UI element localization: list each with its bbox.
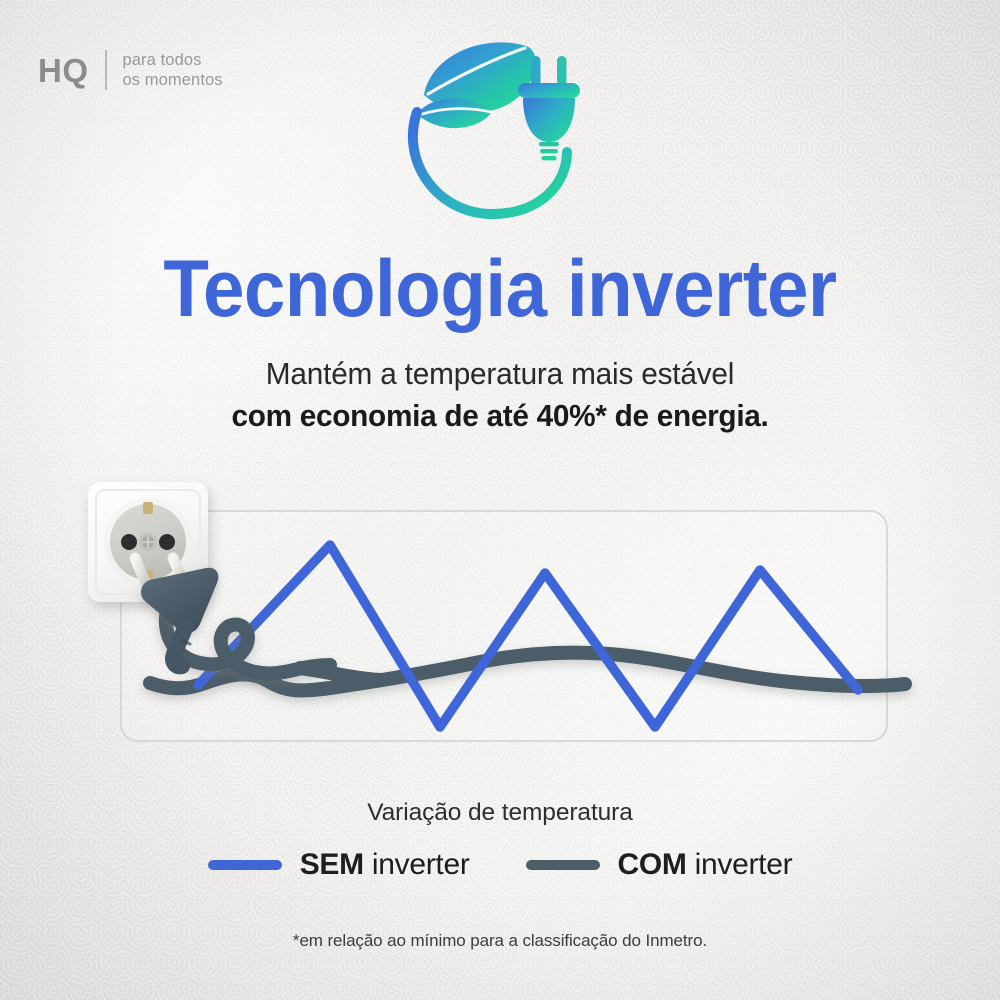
legend-label-com-inverter: COM inverter [618, 848, 793, 882]
chart-panel-frame [120, 510, 888, 742]
legend-label-sem-strong: SEM [300, 848, 364, 881]
legend-label-sem-suffix: inverter [364, 848, 470, 881]
page-title: Tecnologia inverter [40, 249, 960, 330]
brand-lockup: HQ para todos os momentos [38, 50, 223, 91]
line-swatch-slate [526, 860, 600, 870]
legend-item-com-inverter: COM inverter [526, 848, 793, 882]
plug-body [523, 98, 575, 142]
brand-tagline-line1: para todos [123, 50, 223, 70]
legend-label-com-strong: COM [618, 848, 687, 881]
subtitle-line-1: Mantém a temperatura mais estável [20, 356, 980, 393]
brand-divider [105, 50, 107, 90]
legend-title: Variação de temperatura [0, 799, 1000, 827]
legend-label-com-suffix: inverter [687, 848, 793, 881]
eco-plug-icon [392, 32, 608, 232]
brand-tagline: para todos os momentos [123, 50, 223, 91]
poster-canvas: HQ para todos os momentos [0, 0, 1000, 1000]
footnote-text: *em relação ao mínimo para a classificaç… [0, 931, 1000, 951]
brand-tagline-line2: os momentos [123, 70, 223, 90]
brand-mark: HQ [38, 54, 89, 87]
legend-label-sem-inverter: SEM inverter [300, 848, 470, 882]
chart-legend: SEM inverter COM inverter [0, 848, 1000, 882]
line-swatch-blue [208, 860, 282, 870]
legend-item-sem-inverter: SEM inverter [208, 848, 470, 882]
subtitle-line-2: com economia de até 40%* de energia. [20, 398, 980, 435]
